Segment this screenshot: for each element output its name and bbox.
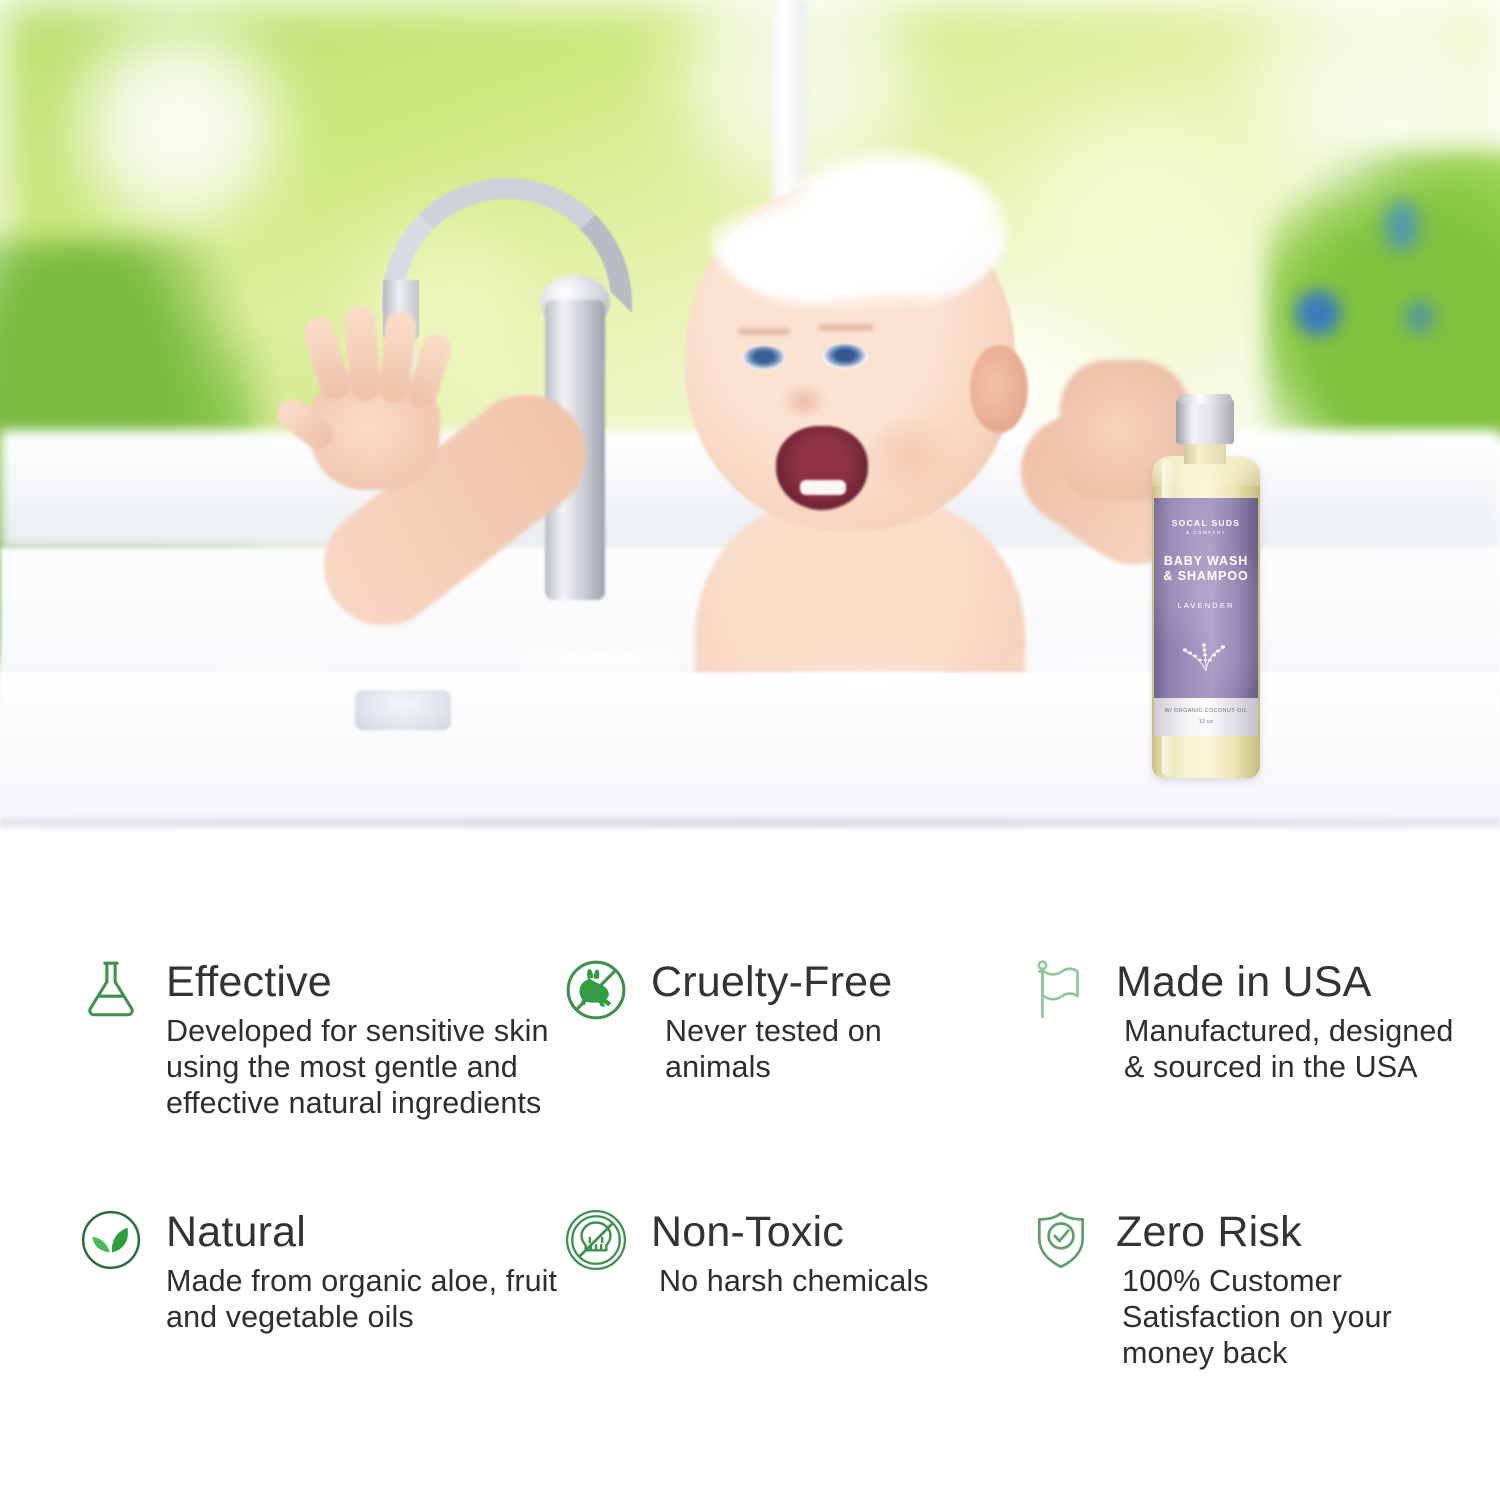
feature-effective: Effective Developed for sensitive skin u… [78,955,563,1205]
feature-title: Cruelty-Free [651,957,955,1007]
feature-description: Developed for sensitive skin using the m… [166,1013,563,1121]
feature-grid: Effective Developed for sensitive skin u… [0,955,1500,1435]
feature-made-in-usa: Made in USA Manufactured, designed & sou… [1028,955,1498,1205]
brand-name: SOCAL SUDS [1154,518,1258,528]
shield-check-icon [1028,1207,1094,1273]
product-name-line1: BABY WASH [1154,554,1258,569]
flag-icon [1028,957,1094,1023]
feature-title: Zero Risk [1116,1207,1452,1257]
baby-hand [290,305,465,485]
no-skull-icon [563,1207,629,1273]
ingredient-claim: W/ ORGANIC COCONUT OIL [1154,708,1258,714]
no-rabbit-icon [563,957,629,1023]
product-scent: LAVENDER [1154,601,1258,610]
leaves-icon [78,1207,144,1273]
feature-description: Made from organic aloe, fruit and vegeta… [166,1263,563,1335]
photo-fade [0,790,1500,900]
brand-suffix: & COMPANY [1154,530,1258,535]
feature-description: 100% Customer Satisfaction on your money… [1122,1263,1452,1371]
lifestyle-photo: SOCAL SUDS & COMPANY BABY WASH & SHAMPOO… [0,0,1500,900]
baby-mouth [776,426,868,510]
bottle-label: SOCAL SUDS & COMPANY BABY WASH & SHAMPOO… [1154,498,1258,698]
product-name-line2: & SHAMPOO [1154,569,1258,584]
product-infographic: SOCAL SUDS & COMPANY BABY WASH & SHAMPOO… [0,0,1500,1500]
feature-title: Non-Toxic [651,1207,929,1257]
feature-non-toxic: Non-Toxic No harsh chemicals [563,1205,1028,1435]
feature-description: Never tested on animals [665,1013,955,1085]
feature-description: No harsh chemicals [659,1263,929,1299]
feature-title: Made in USA [1116,957,1454,1007]
feature-title: Natural [166,1207,563,1257]
bottle-label-footer: W/ ORGANIC COCONUT OIL 12 oz [1154,698,1258,736]
bottle-cap [1176,398,1234,444]
bottle-size: 12 oz [1154,719,1258,725]
product-bottle[interactable]: SOCAL SUDS & COMPANY BABY WASH & SHAMPOO… [1148,398,1264,780]
bath-suds [0,600,1500,730]
feature-zero-risk: Zero Risk 100% Customer Satisfaction on … [1028,1205,1498,1435]
lavender-sprig-icon [1178,638,1234,672]
baby-eye-left [742,346,786,370]
baby-eye-right [822,344,868,369]
feature-natural: Natural Made from organic aloe, fruit an… [78,1205,563,1435]
flask-icon [78,957,144,1023]
feature-title: Effective [166,957,563,1007]
feature-description: Manufactured, designed & sourced in the … [1124,1013,1454,1085]
feature-cruelty-free: Cruelty-Free Never tested on animals [563,955,1028,1205]
